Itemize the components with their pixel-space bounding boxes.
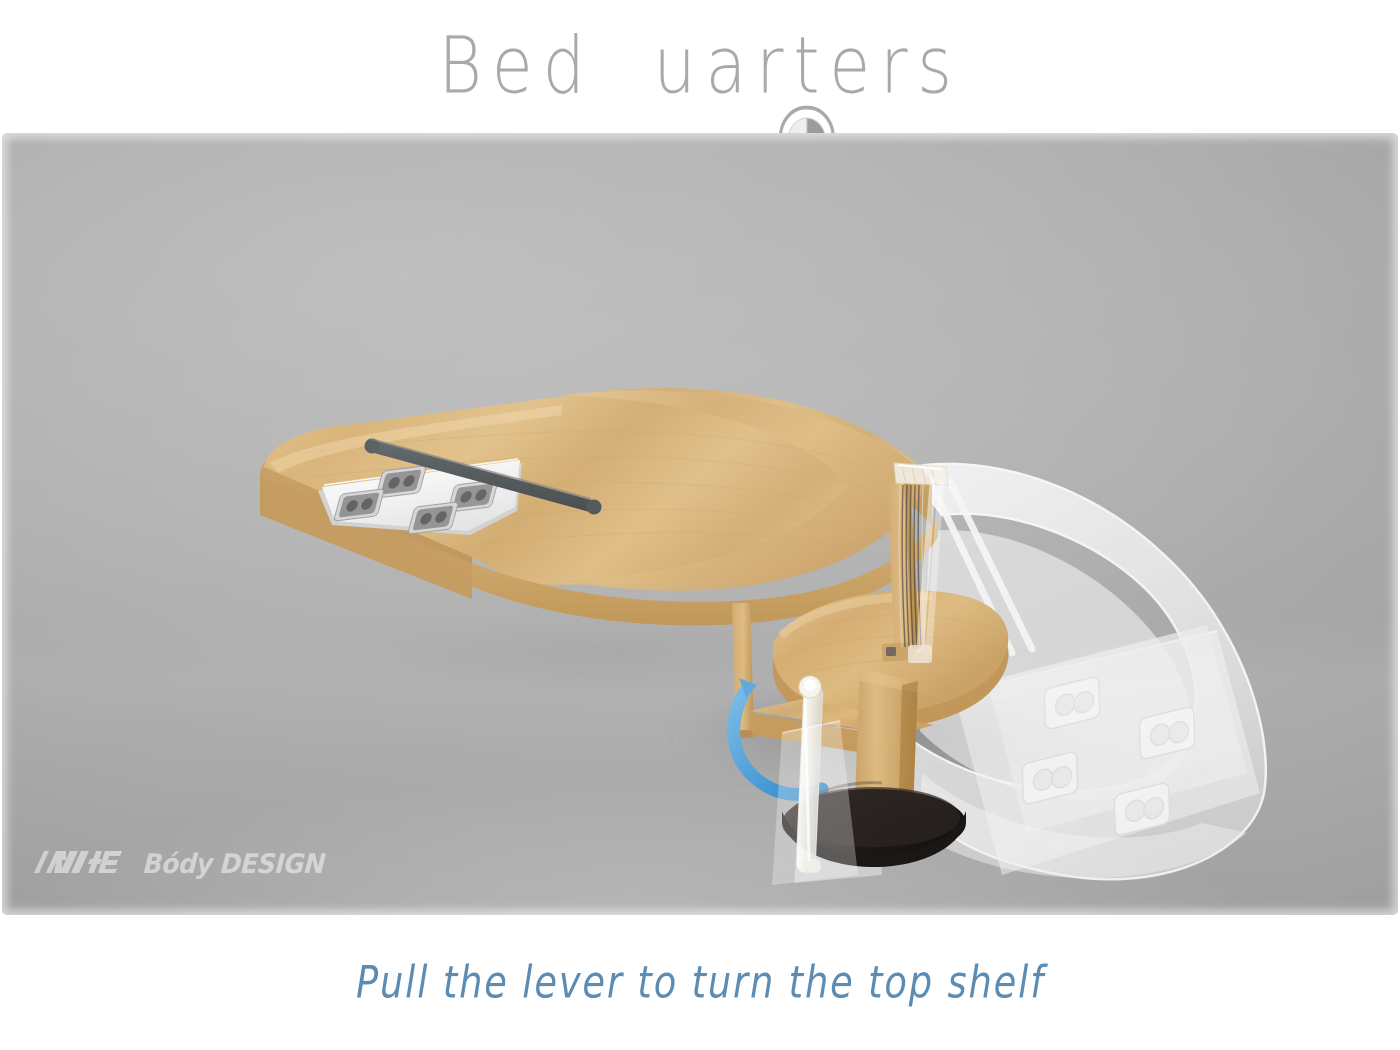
caption-bar: Pull the lever to turn the top shelf	[0, 915, 1400, 1050]
watermark-text: Bódy DESIGN	[143, 849, 327, 880]
watermark: Bódy DESIGN	[32, 847, 332, 882]
quartered-circle-q-icon	[591, 25, 652, 115]
panel-vignette	[2, 133, 1398, 915]
product-render-panel: Bódy DESIGN	[2, 133, 1398, 915]
angular-logo-mark-icon	[32, 847, 128, 882]
page-title: Bed uarters	[438, 21, 961, 111]
title-suffix: uarters	[653, 27, 961, 106]
title-bar: Bed uarters	[0, 0, 1400, 133]
title-prefix: Bed	[438, 27, 594, 106]
caption-text: Pull the lever to turn the top shelf	[355, 957, 1044, 1009]
